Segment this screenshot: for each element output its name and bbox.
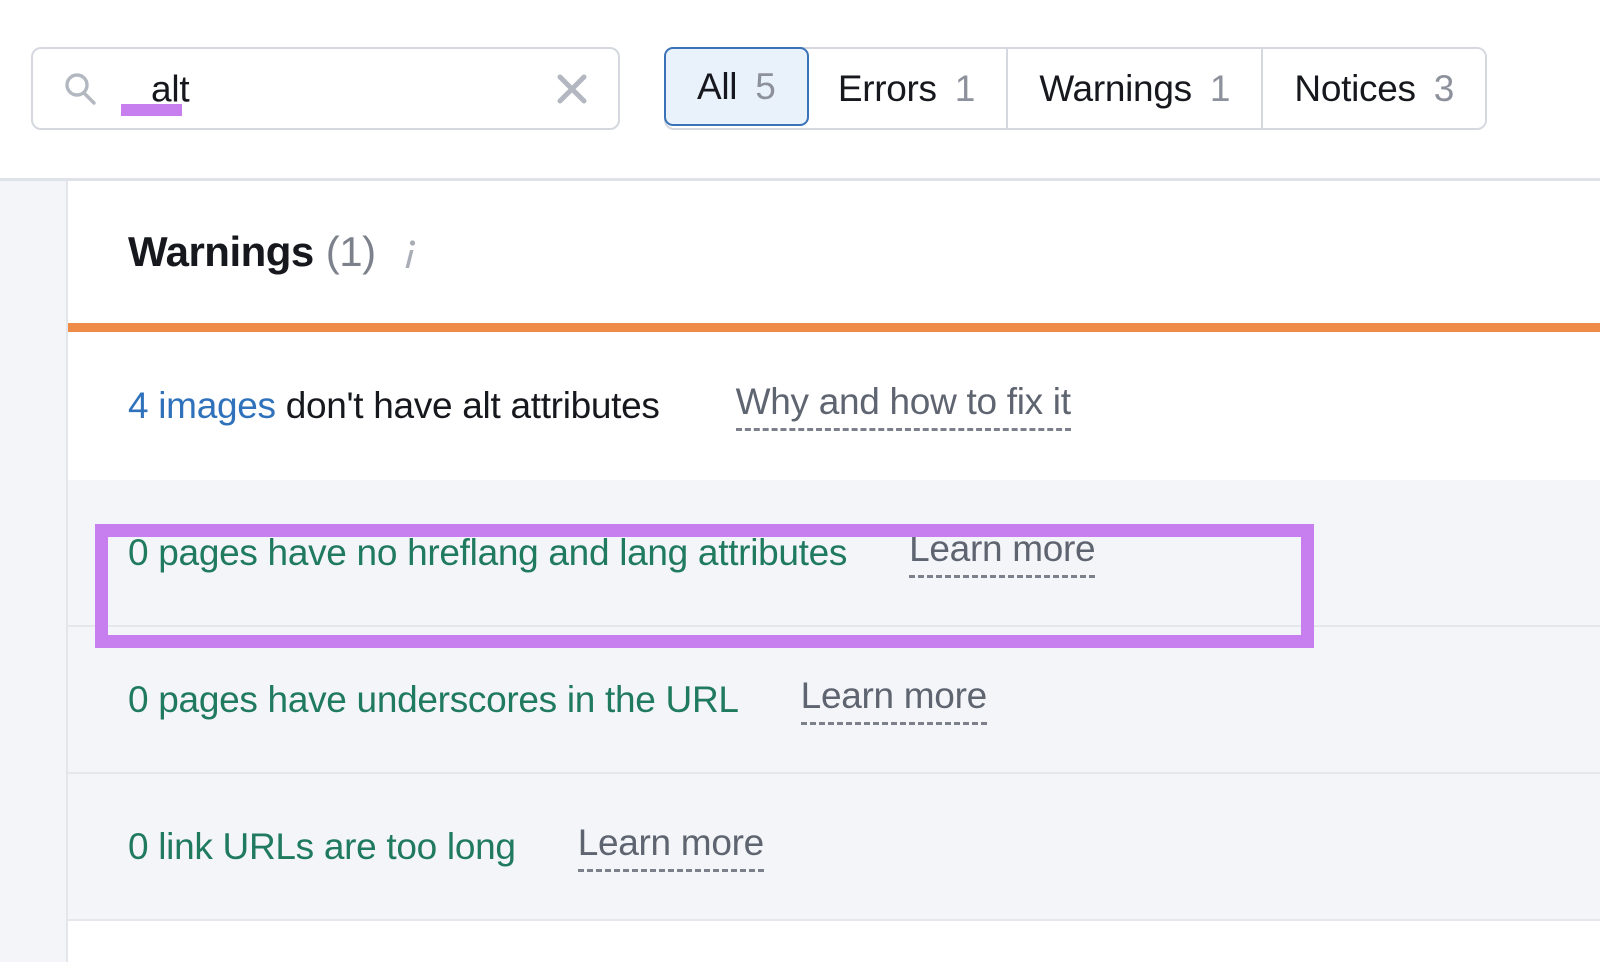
table-row[interactable]: 4 images don't have alt attributes Why a… xyxy=(68,332,1600,480)
issue-description: 0 link URLs are too long xyxy=(128,826,516,868)
warning-severity-bar xyxy=(68,323,1600,332)
why-and-how-to-fix-it-link[interactable]: Why and how to fix it xyxy=(736,381,1071,431)
info-icon[interactable] xyxy=(400,237,420,271)
issue-count-link[interactable]: 4 images xyxy=(128,385,276,426)
panel-bottom-spacer xyxy=(68,921,1600,951)
top-toolbar: alt All 5 Errors 1 Warnings 1 Notices 3 xyxy=(0,0,1600,178)
tab-all[interactable]: All 5 xyxy=(664,47,809,126)
learn-more-link[interactable]: Learn more xyxy=(801,675,987,725)
close-icon[interactable] xyxy=(554,71,590,107)
search-input-value: alt xyxy=(151,70,189,107)
issue-description-text: don't have alt attributes xyxy=(276,385,660,426)
tab-notices-label: Notices xyxy=(1294,70,1415,107)
tab-warnings-count: 1 xyxy=(1210,70,1231,107)
learn-more-link[interactable]: Learn more xyxy=(578,822,764,872)
tab-notices[interactable]: Notices 3 xyxy=(1263,49,1485,128)
page-title: Warnings xyxy=(128,228,314,276)
issue-description: 0 pages have underscores in the URL xyxy=(128,679,739,721)
panel-header: Warnings (1) xyxy=(68,181,1600,323)
issue-description: 0 pages have no hreflang and lang attrib… xyxy=(128,532,847,574)
search-input[interactable]: alt xyxy=(31,47,620,130)
tab-errors[interactable]: Errors 1 xyxy=(807,49,1009,128)
tab-errors-count: 1 xyxy=(955,70,976,107)
issue-description: 4 images don't have alt attributes xyxy=(128,385,660,427)
filter-tab-group: All 5 Errors 1 Warnings 1 Notices 3 xyxy=(664,47,1487,130)
tab-errors-label: Errors xyxy=(838,70,937,107)
content-area: Warnings (1) 4 images don't have alt att… xyxy=(0,181,1600,962)
table-row[interactable]: 0 pages have no hreflang and lang attrib… xyxy=(68,480,1600,627)
page-title-count: (1) xyxy=(326,228,376,276)
issues-panel: Warnings (1) 4 images don't have alt att… xyxy=(66,181,1600,962)
table-row[interactable]: 0 pages have underscores in the URL Lear… xyxy=(68,627,1600,774)
table-row[interactable]: 0 link URLs are too long Learn more xyxy=(68,774,1600,921)
tab-all-count: 5 xyxy=(755,68,776,105)
tab-all-label: All xyxy=(697,68,737,105)
search-value-wrapper: alt xyxy=(151,70,189,107)
tab-warnings-label: Warnings xyxy=(1039,70,1192,107)
tab-notices-count: 3 xyxy=(1434,70,1455,107)
tab-warnings[interactable]: Warnings 1 xyxy=(1008,49,1263,128)
learn-more-link[interactable]: Learn more xyxy=(909,528,1095,578)
search-term-highlight-annotation xyxy=(121,104,182,116)
search-icon xyxy=(63,72,97,106)
